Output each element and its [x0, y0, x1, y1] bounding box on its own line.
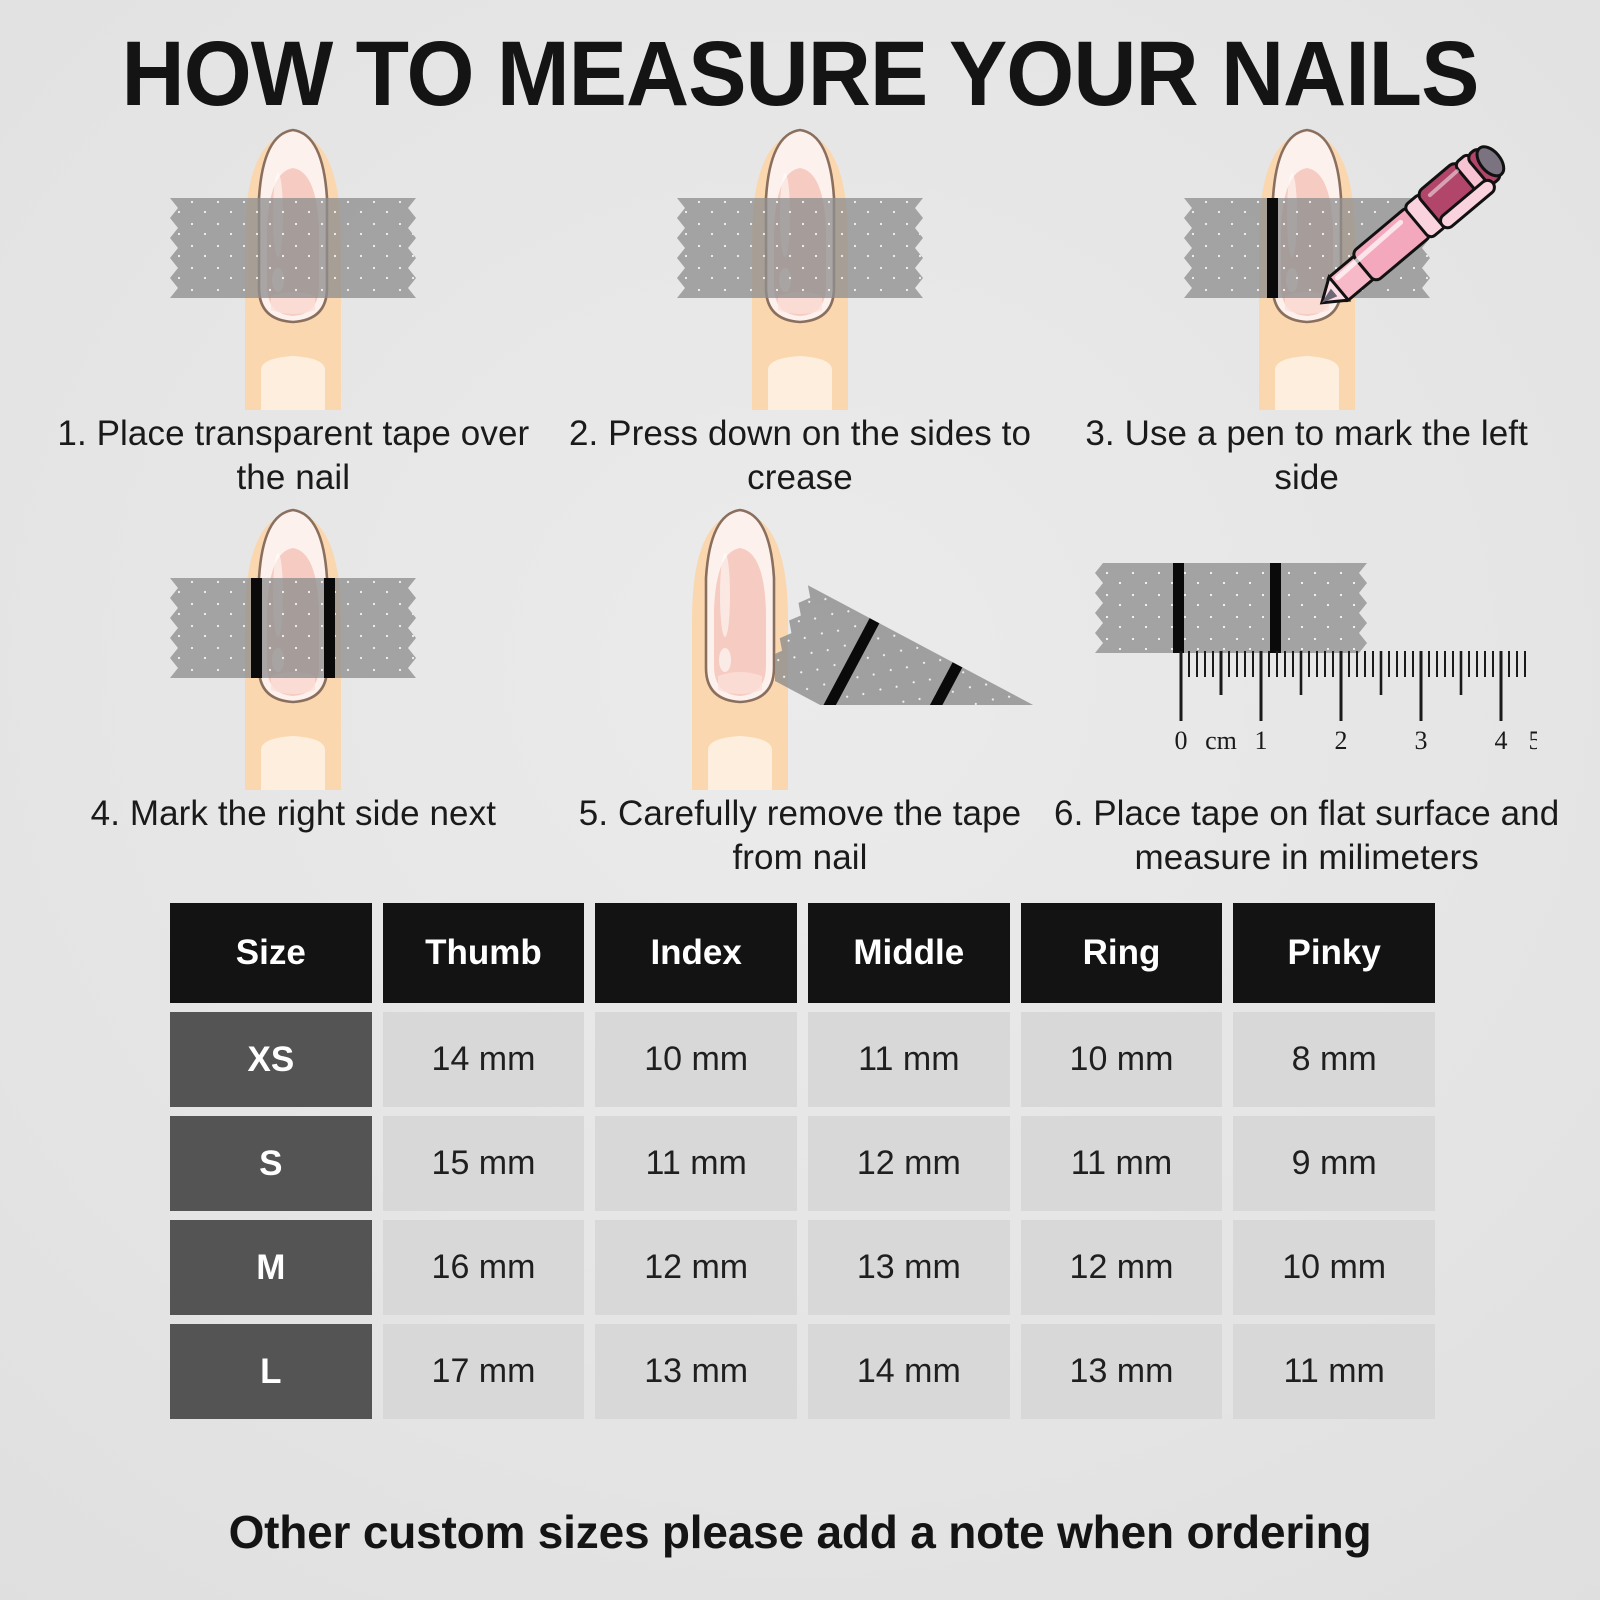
ruler-unit-label: cm [1205, 726, 1237, 755]
step-1: 1. Place transparent tape over the nail [40, 120, 547, 500]
table-size-xs: XS [170, 1012, 372, 1107]
table-cell: 11 mm [595, 1116, 797, 1211]
step-6: 0 cm 1 2 3 4 5 6. Place tape on flat sur… [1053, 500, 1560, 880]
table-cell: 12 mm [808, 1116, 1010, 1211]
ruler-label-4: 4 [1494, 726, 1507, 755]
right-edge-mark [324, 578, 335, 678]
ruler-label-0: 0 [1174, 726, 1187, 755]
ruler-label-5: 5 [1528, 726, 1537, 755]
step-4-caption: 4. Mark the right side next [40, 792, 547, 836]
ruler-icon: 0 cm 1 2 3 4 5 [1077, 525, 1537, 775]
step-4: 4. Mark the right side next [40, 500, 547, 880]
table-cell: 11 mm [1233, 1324, 1435, 1419]
table-cell: 11 mm [1021, 1116, 1223, 1211]
table-cell: 17 mm [383, 1324, 585, 1419]
step-3: 3. Use a pen to mark the left side [1053, 120, 1560, 500]
step-1-illustration [40, 120, 547, 410]
left-edge-mark [1267, 198, 1278, 298]
table-cell: 10 mm [595, 1012, 797, 1107]
tape-strip [669, 198, 931, 298]
table-header-ring: Ring [1021, 903, 1223, 1003]
table-cell: 10 mm [1021, 1012, 1223, 1107]
step-6-illustration: 0 cm 1 2 3 4 5 [1053, 500, 1560, 790]
table-cell: 13 mm [595, 1324, 797, 1419]
step-5-caption: 5. Carefully remove the tape from nail [547, 792, 1054, 881]
table-cell: 12 mm [595, 1220, 797, 1315]
table-header-index: Index [595, 903, 797, 1003]
table-cell: 9 mm [1233, 1116, 1435, 1211]
table-header-size: Size [170, 903, 372, 1003]
step-2-caption: 2. Press down on the sides to crease [547, 412, 1054, 501]
step-1-caption: 1. Place transparent tape over the nail [40, 412, 547, 501]
step-3-caption: 3. Use a pen to mark the left side [1053, 412, 1560, 501]
table-cell: 8 mm [1233, 1012, 1435, 1107]
table-cell: 16 mm [383, 1220, 585, 1315]
table-cell: 14 mm [383, 1012, 585, 1107]
step-2-illustration [547, 120, 1054, 410]
table-cell: 13 mm [1021, 1324, 1223, 1419]
table-cell: 10 mm [1233, 1220, 1435, 1315]
table-size-l: L [170, 1324, 372, 1419]
step-3-illustration [1053, 120, 1560, 410]
footer-note: Other custom sizes please add a note whe… [0, 1505, 1600, 1559]
tape-strip [162, 198, 424, 298]
table-size-m: M [170, 1220, 372, 1315]
page-title: HOW TO MEASURE YOUR NAILS [40, 28, 1560, 120]
ruler-label-3: 3 [1414, 726, 1427, 755]
table-cell: 14 mm [808, 1324, 1010, 1419]
step-4-illustration [40, 500, 547, 790]
table-cell: 12 mm [1021, 1220, 1223, 1315]
tape-strip-peeled [775, 585, 1053, 705]
table-size-s: S [170, 1116, 372, 1211]
step-2: 2. Press down on the sides to crease [547, 120, 1054, 500]
ruler-label-1: 1 [1254, 726, 1267, 755]
step-5: 5. Carefully remove the tape from nail [547, 500, 1054, 880]
table-cell: 11 mm [808, 1012, 1010, 1107]
table-cell: 13 mm [808, 1220, 1010, 1315]
size-chart-table: SizeThumbIndexMiddleRingPinkyXS14 mm10 m… [170, 903, 1435, 1419]
ruler-label-2: 2 [1334, 726, 1347, 755]
steps-grid: 1. Place transparent tape over the nail [40, 120, 1560, 880]
table-header-thumb: Thumb [383, 903, 585, 1003]
left-edge-mark [251, 578, 262, 678]
tape-strip [162, 578, 424, 678]
step-5-illustration [547, 500, 1054, 790]
step-6-caption: 6. Place tape on flat surface and measur… [1053, 792, 1560, 881]
table-header-pinky: Pinky [1233, 903, 1435, 1003]
table-header-middle: Middle [808, 903, 1010, 1003]
table-cell: 15 mm [383, 1116, 585, 1211]
pen-icon [1287, 130, 1527, 330]
